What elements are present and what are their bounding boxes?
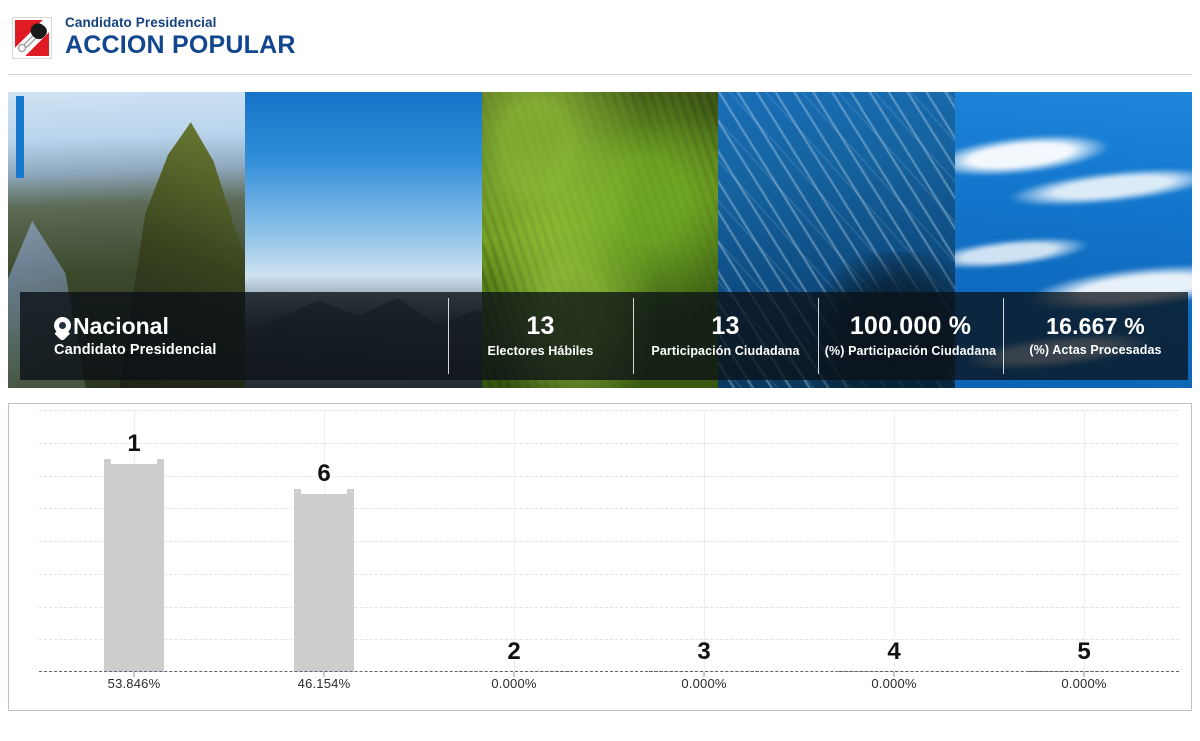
page-header: Candidato Presidencial ACCION POPULAR <box>0 0 1200 74</box>
bar[interactable] <box>294 494 354 672</box>
x-axis-label: 46.154% <box>298 676 351 691</box>
stat-pct-actas-procesadas: 16.667 % (%) Actas Procesadas <box>1003 292 1188 380</box>
bar-value-label: 4 <box>887 640 900 664</box>
x-axis-label: 0.000% <box>681 676 726 691</box>
scope-title-row: Nacional <box>54 314 448 339</box>
bar-value-label: 1 <box>127 432 140 456</box>
stat-value: 13 <box>711 313 739 340</box>
accion-popular-shovel-icon <box>12 17 52 59</box>
x-axis-label: 0.000% <box>491 676 536 691</box>
party-logo <box>10 15 54 61</box>
stat-label: (%) Actas Procesadas <box>1029 343 1161 358</box>
stat-value: 13 <box>526 313 554 340</box>
stat-participacion-ciudadana: 13 Participación Ciudadana <box>633 292 818 380</box>
chart-axis-line <box>39 671 1179 672</box>
page-title: ACCION POPULAR <box>65 31 296 59</box>
chart-plot-area: 162345 <box>39 410 1179 672</box>
bar-group[interactable]: 2 <box>419 410 609 672</box>
scope-accent-bar <box>16 96 24 178</box>
hero-banner: Nacional Candidato Presidencial 13 Elect… <box>8 92 1192 388</box>
bar-group[interactable]: 4 <box>799 410 989 672</box>
x-axis-label: 0.000% <box>871 676 916 691</box>
scope-cell[interactable]: Nacional Candidato Presidencial <box>20 292 448 380</box>
stat-label: Participación Ciudadana <box>651 344 799 359</box>
bar-value-label: 3 <box>697 640 710 664</box>
stat-value: 100.000 % <box>850 313 971 340</box>
bar-column: 3 <box>609 410 799 672</box>
scope-title: Nacional <box>73 314 169 339</box>
header-kicker: Candidato Presidencial <box>65 15 296 31</box>
bar-group[interactable]: 3 <box>609 410 799 672</box>
x-axis-label: 53.846% <box>108 676 161 691</box>
stat-label: (%) Participación Ciudadana <box>825 344 996 359</box>
bar-value-label: 6 <box>317 462 330 486</box>
bar-notch-right <box>157 459 164 464</box>
summary-stats-bar: Nacional Candidato Presidencial 13 Elect… <box>20 292 1188 380</box>
logo-shovel-grip <box>18 44 26 52</box>
stat-value: 16.667 % <box>1046 314 1145 339</box>
bar-column: 5 <box>989 410 1179 672</box>
stat-pct-participacion-ciudadana: 100.000 % (%) Participación Ciudadana <box>818 292 1003 380</box>
stat-label: Electores Hábiles <box>488 344 594 359</box>
bar-notch-left <box>104 459 111 464</box>
location-pin-icon <box>54 316 71 338</box>
scope-subtitle: Candidato Presidencial <box>54 342 448 358</box>
chart-x-axis-labels: 53.846%46.154%0.000%0.000%0.000%0.000% <box>39 676 1179 704</box>
bar[interactable] <box>104 464 164 672</box>
x-axis-label: 0.000% <box>1061 676 1106 691</box>
bar-column: 2 <box>419 410 609 672</box>
bar-notch-right <box>347 489 354 494</box>
bar-notch-left <box>294 489 301 494</box>
bar-value-label: 5 <box>1077 640 1090 664</box>
bar-column: 1 <box>39 410 229 672</box>
bar-group[interactable]: 1 <box>39 410 229 672</box>
stat-electores-habiles: 13 Electores Hábiles <box>448 292 633 380</box>
bar-group[interactable]: 6 <box>229 410 419 672</box>
bar-value-label: 2 <box>507 640 520 664</box>
bar-column: 6 <box>229 410 419 672</box>
bar-column: 4 <box>799 410 989 672</box>
header-divider <box>8 74 1192 75</box>
chart-bars: 162345 <box>39 410 1179 672</box>
results-page: Candidato Presidencial ACCION POPULAR Na… <box>0 0 1200 741</box>
bar-group[interactable]: 5 <box>989 410 1179 672</box>
results-bar-chart: 162345 53.846%46.154%0.000%0.000%0.000%0… <box>8 403 1192 711</box>
header-title-block: Candidato Presidencial ACCION POPULAR <box>65 15 296 60</box>
